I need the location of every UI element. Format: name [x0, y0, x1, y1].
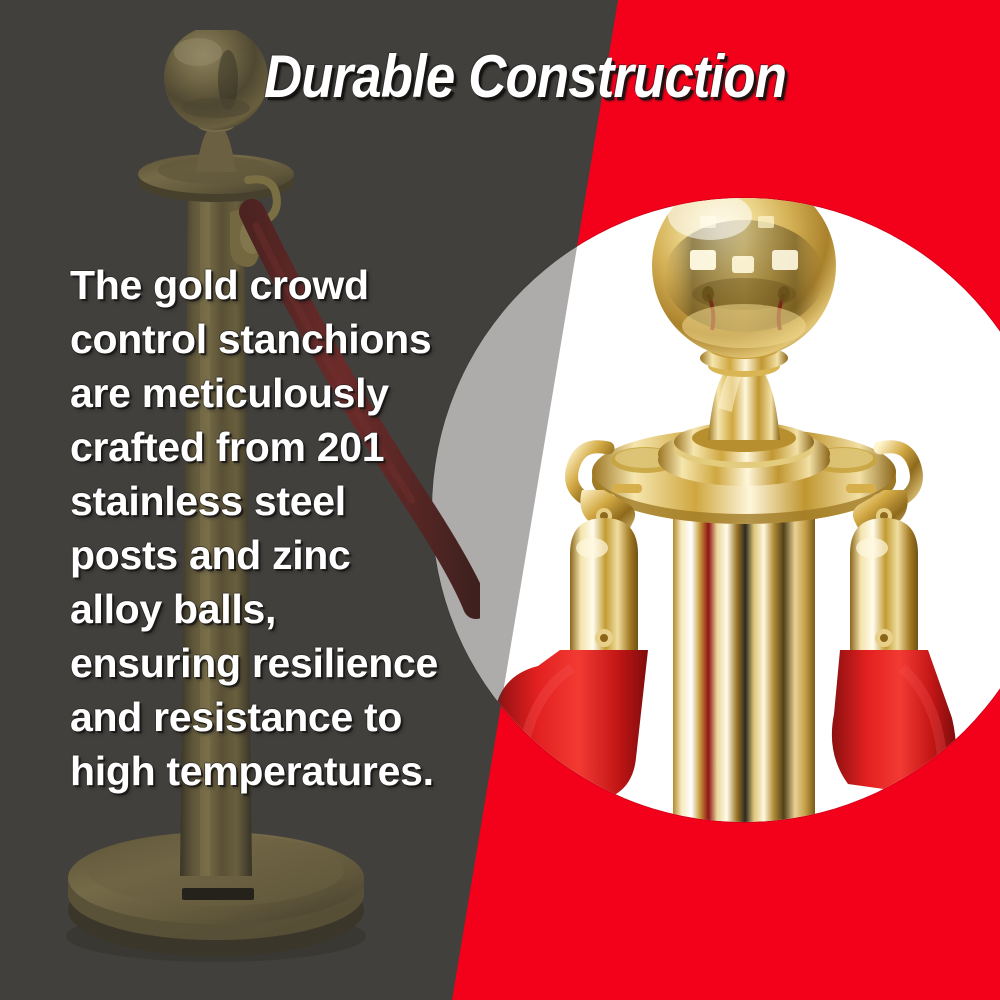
right-rope-end-cap — [850, 518, 918, 660]
body-line: stainless steel — [70, 474, 460, 528]
marketing-banner: Durable Construction The gold crowd cont… — [0, 0, 1000, 1000]
body-copy: The gold crowd control stanchions are me… — [70, 258, 460, 798]
left-rope-end-cap — [570, 518, 638, 660]
gold-stanchion-top-closeup — [432, 198, 1000, 822]
page-title: Durable Construction — [264, 44, 792, 114]
left-red-velvet-rope — [494, 650, 648, 812]
body-line: The gold crowd — [70, 258, 460, 312]
body-line: posts and zinc — [70, 528, 460, 582]
body-line: control stanchions — [70, 312, 460, 366]
body-line: high temperatures. — [70, 744, 460, 798]
body-line: and resistance to — [70, 690, 460, 744]
body-line: ensuring resilience — [70, 636, 460, 690]
body-line: crafted from 201 — [70, 420, 460, 474]
right-red-velvet-rope — [832, 650, 956, 798]
body-line: alloy balls, — [70, 582, 460, 636]
post — [673, 518, 815, 822]
ball-finial — [652, 198, 836, 358]
body-line: are meticulously — [70, 366, 460, 420]
ball-finial — [164, 30, 268, 130]
